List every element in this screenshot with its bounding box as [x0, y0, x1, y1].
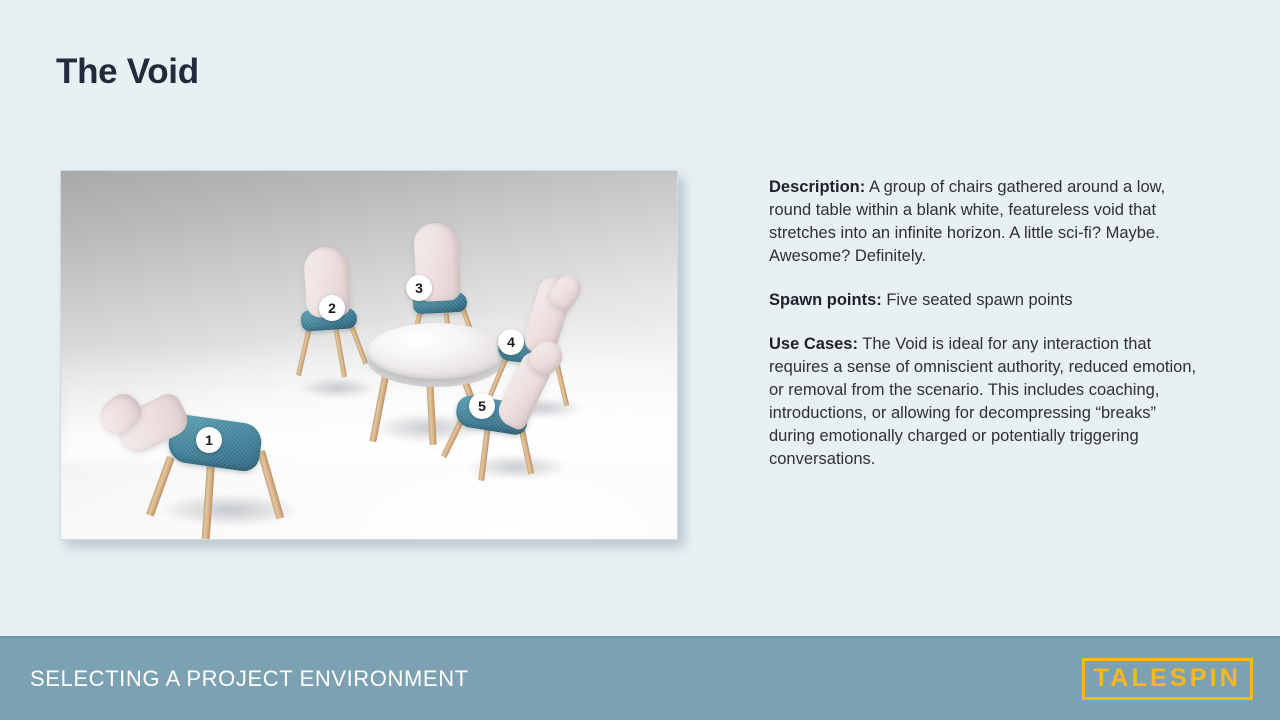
spawn-badge-4[interactable]: 4: [498, 329, 524, 355]
page-title: The Void: [56, 50, 199, 94]
environment-render-panel[interactable]: 2 3 4: [60, 170, 678, 540]
slide-footer: SELECTING A PROJECT ENVIRONMENT TALESPIN: [0, 636, 1280, 720]
spawn-badge-3-label: 3: [415, 281, 423, 295]
use-cases-paragraph: Use Cases: The Void is ideal for any int…: [769, 333, 1205, 471]
talespin-logo-text: TALESPIN: [1094, 666, 1241, 691]
description-label: Description:: [769, 178, 865, 196]
spawn-badge-5[interactable]: 5: [469, 393, 495, 419]
spawn-badge-3[interactable]: 3: [406, 275, 432, 301]
spawn-badge-2[interactable]: 2: [319, 295, 345, 321]
footer-section-title: SELECTING A PROJECT ENVIRONMENT: [30, 666, 469, 692]
use-cases-text: The Void is ideal for any interaction th…: [769, 335, 1196, 468]
spawn-badge-5-label: 5: [478, 399, 486, 413]
spawn-points-paragraph: Spawn points: Five seated spawn points: [769, 289, 1205, 312]
use-cases-label: Use Cases:: [769, 335, 858, 353]
spawn-badge-1-label: 1: [205, 433, 213, 447]
environment-details-copy: Description: A group of chairs gathered …: [769, 176, 1205, 471]
spawn-badge-1[interactable]: 1: [196, 427, 222, 453]
spawn-points-text: Five seated spawn points: [882, 291, 1073, 309]
spawn-badge-4-label: 4: [507, 335, 515, 349]
spawn-points-label: Spawn points:: [769, 291, 882, 309]
talespin-logo: TALESPIN: [1082, 658, 1253, 700]
spawn-badge-2-label: 2: [328, 301, 336, 315]
description-paragraph: Description: A group of chairs gathered …: [769, 176, 1205, 268]
